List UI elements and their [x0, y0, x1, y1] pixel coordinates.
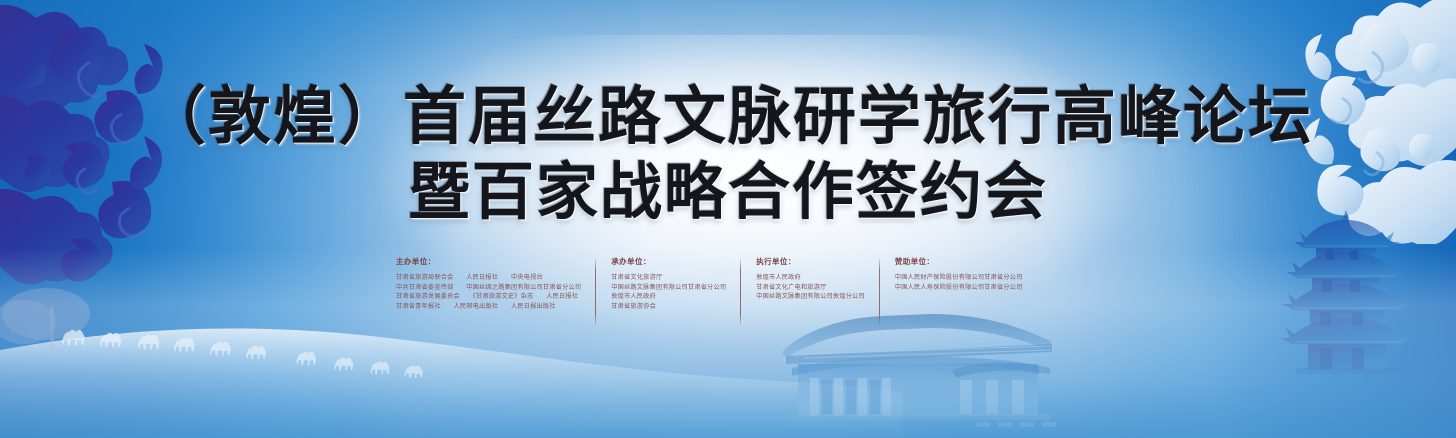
- credits-row: 主办单位： 甘肃省旅游局联合会 人民日报社 中央电视台 中共甘肃省委宣传部 中国…: [396, 256, 1037, 311]
- page-title: （敦煌）首届丝路文脉研学旅行高峰论坛 暨百家战略合作签约会: [0, 78, 1456, 230]
- credit-column-executor: 执行单位： 敦煌市人民政府 甘肃省文化广电和旅游厅 中国丝路文脉集团有限公司敦煌…: [740, 256, 879, 302]
- credit-line: 敦煌市人民政府: [756, 273, 865, 283]
- credit-line: 甘肃省文化旅游厅: [611, 273, 726, 283]
- credit-heading: 执行单位：: [756, 256, 865, 267]
- credit-column-sponsor: 赞助单位： 中国人民财产保险股份有限公司甘肃省分公司 中国人民人寿保险股份有限公…: [879, 256, 1037, 292]
- event-banner: （敦煌）首届丝路文脉研学旅行高峰论坛 暨百家战略合作签约会 主办单位： 甘肃省旅…: [0, 0, 1456, 438]
- credit-line: 甘肃省旅游协会: [611, 302, 726, 312]
- credit-column-organizer: 主办单位： 甘肃省旅游局联合会 人民日报社 中央电视台 中共甘肃省委宣传部 中国…: [396, 256, 595, 311]
- credit-heading: 承办单位：: [611, 256, 726, 267]
- credit-line: 中共甘肃省委宣传部 中国丝绸之路集团有限公司甘肃省分公司: [396, 283, 581, 293]
- credit-line: 中国丝路文脉集团有限公司甘肃省分公司: [611, 283, 726, 293]
- credit-line: 甘肃省旅游发展委员会 《甘肃旅游文史》杂志 人民日报社: [396, 292, 581, 302]
- credit-line: 甘肃省青年报社 人民邮电出版社 人民日报出版社: [396, 302, 581, 312]
- credit-line: 中国丝路文脉集团有限公司敦煌分公司: [756, 292, 865, 302]
- credit-line: 甘肃省文化广电和旅游厅: [756, 283, 865, 293]
- credit-heading: 主办单位：: [396, 256, 581, 267]
- title-line-1: （敦煌）首届丝路文脉研学旅行高峰论坛: [0, 78, 1456, 154]
- credit-column-host: 承办单位： 甘肃省文化旅游厅 中国丝路文脉集团有限公司甘肃省分公司 敦煌市人民政…: [595, 256, 740, 311]
- credit-line: 敦煌市人民政府: [611, 292, 726, 302]
- credit-heading: 赞助单位：: [895, 256, 1023, 267]
- credit-line: 甘肃省旅游局联合会 人民日报社 中央电视台: [396, 273, 581, 283]
- credit-line: 中国人民人寿保险股份有限公司甘肃省分公司: [895, 283, 1023, 293]
- credit-line: 中国人民财产保险股份有限公司甘肃省分公司: [895, 273, 1023, 283]
- title-line-2: 暨百家战略合作签约会: [0, 154, 1456, 230]
